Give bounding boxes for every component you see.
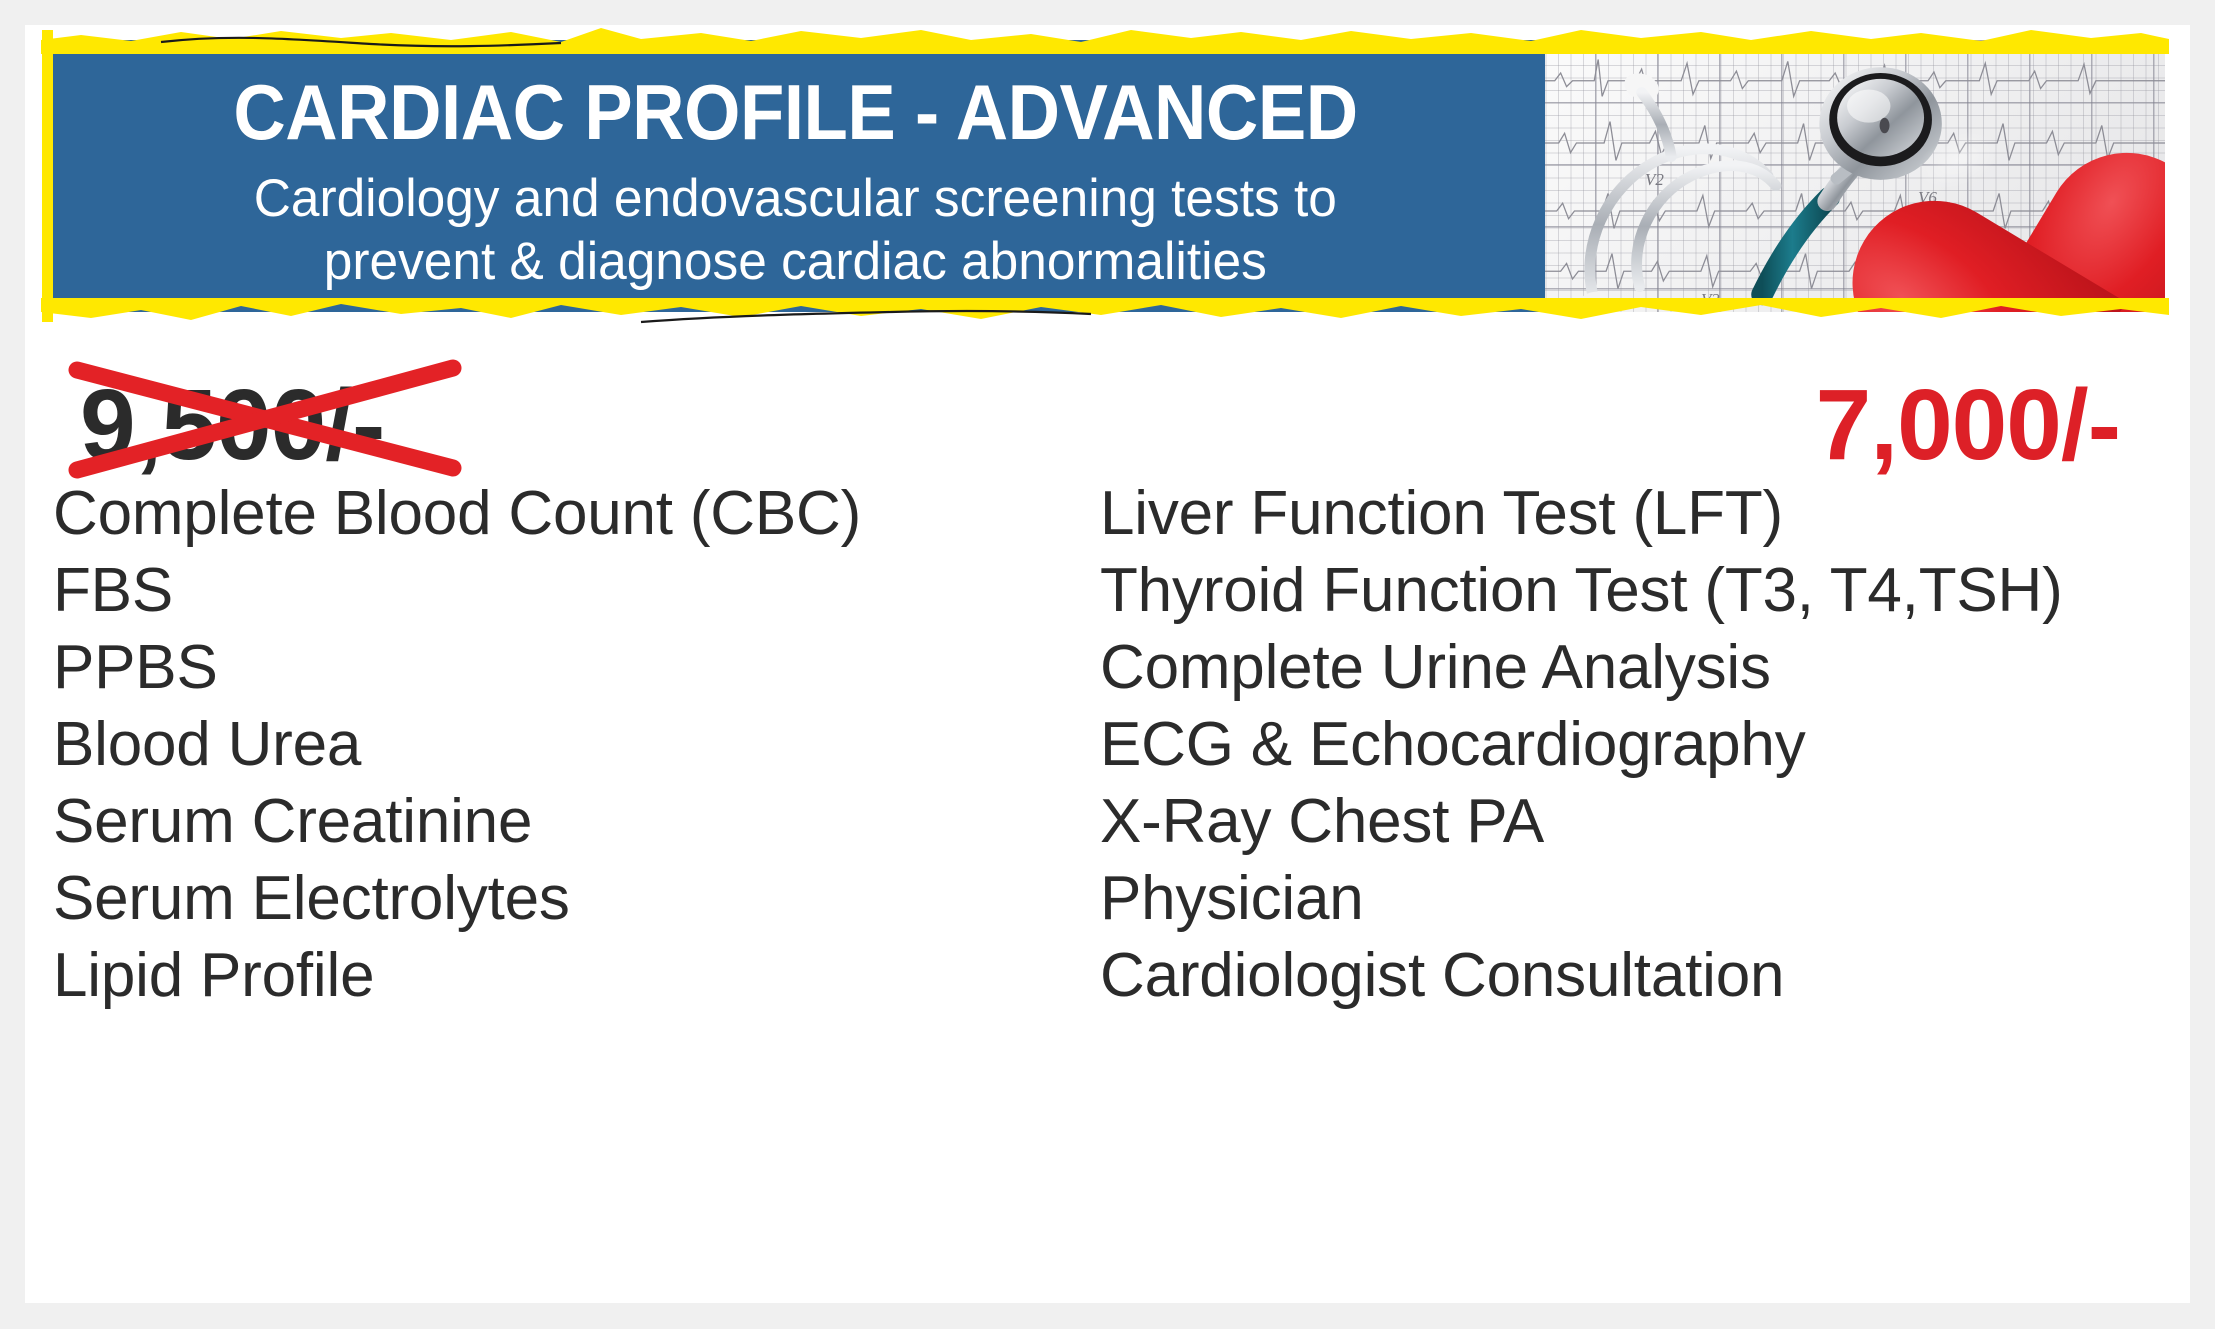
list-item: Serum Creatinine	[53, 783, 1053, 860]
promo-card: V2 V3 V6 25mm/s	[25, 25, 2190, 1303]
banner-title: CARDIAC PROFILE - ADVANCED	[233, 73, 1357, 153]
torn-edge-left	[42, 30, 53, 322]
banner-subtitle: Cardiology and endovascular screening te…	[253, 168, 1336, 293]
list-item: Cardiologist Consultation	[1100, 937, 2170, 1014]
banner-text-block: CARDIAC PROFILE - ADVANCED Cardiology an…	[45, 40, 1545, 312]
list-item: ECG & Echocardiography	[1100, 706, 2170, 783]
tests-right-column: Liver Function Test (LFT) Thyroid Functi…	[1100, 475, 2170, 1014]
list-item: Thyroid Function Test (T3, T4,TSH)	[1100, 552, 2170, 629]
list-item: X-Ray Chest PA	[1100, 783, 2170, 860]
list-item: Liver Function Test (LFT)	[1100, 475, 2170, 552]
ecg-paper-image: V2 V3 V6 25mm/s	[1533, 40, 2165, 312]
banner: V2 V3 V6 25mm/s	[45, 40, 2165, 312]
list-item: PPBS	[53, 629, 1053, 706]
list-item: Physician	[1100, 860, 2170, 937]
list-item: Complete Urine Analysis	[1100, 629, 2170, 706]
heart-model-icon	[1795, 88, 2125, 312]
old-price: 9,500/-	[80, 368, 384, 483]
list-item: Blood Urea	[53, 706, 1053, 783]
new-price: 7,000/-	[1816, 368, 2120, 483]
list-item: FBS	[53, 552, 1053, 629]
list-item: Complete Blood Count (CBC)	[53, 475, 1053, 552]
tests-left-column: Complete Blood Count (CBC) FBS PPBS Bloo…	[53, 475, 1053, 1014]
list-item: Lipid Profile	[53, 937, 1053, 1014]
list-item: Serum Electrolytes	[53, 860, 1053, 937]
